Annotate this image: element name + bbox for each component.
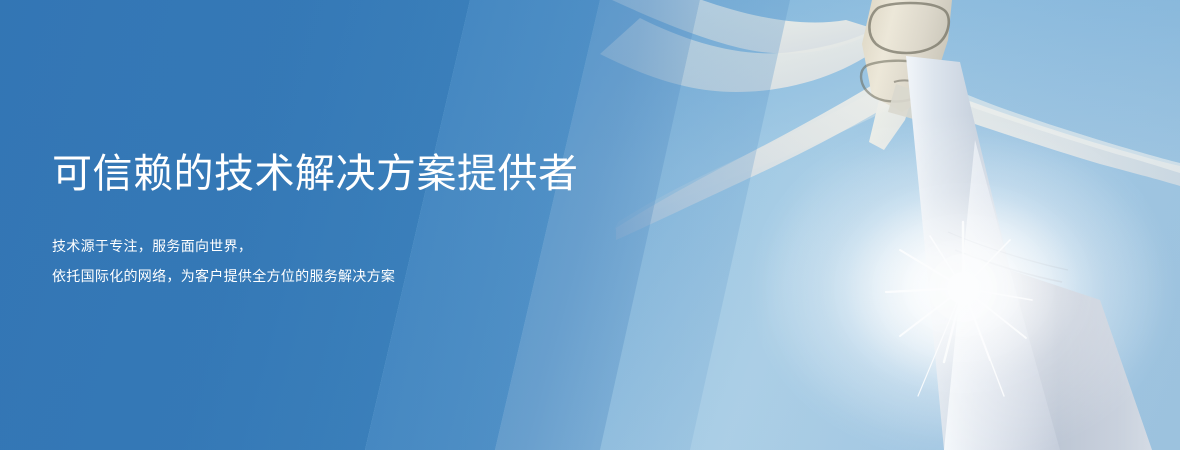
- banner-subtitle: 技术源于专注，服务面向世界， 依托国际化的网络，为客户提供全方位的服务解决方案: [52, 198, 752, 291]
- subtitle-line-2: 依托国际化的网络，为客户提供全方位的服务解决方案: [52, 261, 752, 291]
- banner-copy: 可信赖的技术解决方案提供者 技术源于专注，服务面向世界， 依托国际化的网络，为客…: [52, 150, 752, 291]
- subtitle-line-1: 技术源于专注，服务面向世界，: [52, 231, 752, 261]
- hero-banner: 可信赖的技术解决方案提供者 技术源于专注，服务面向世界， 依托国际化的网络，为客…: [0, 0, 1180, 450]
- page-title: 可信赖的技术解决方案提供者: [52, 150, 752, 198]
